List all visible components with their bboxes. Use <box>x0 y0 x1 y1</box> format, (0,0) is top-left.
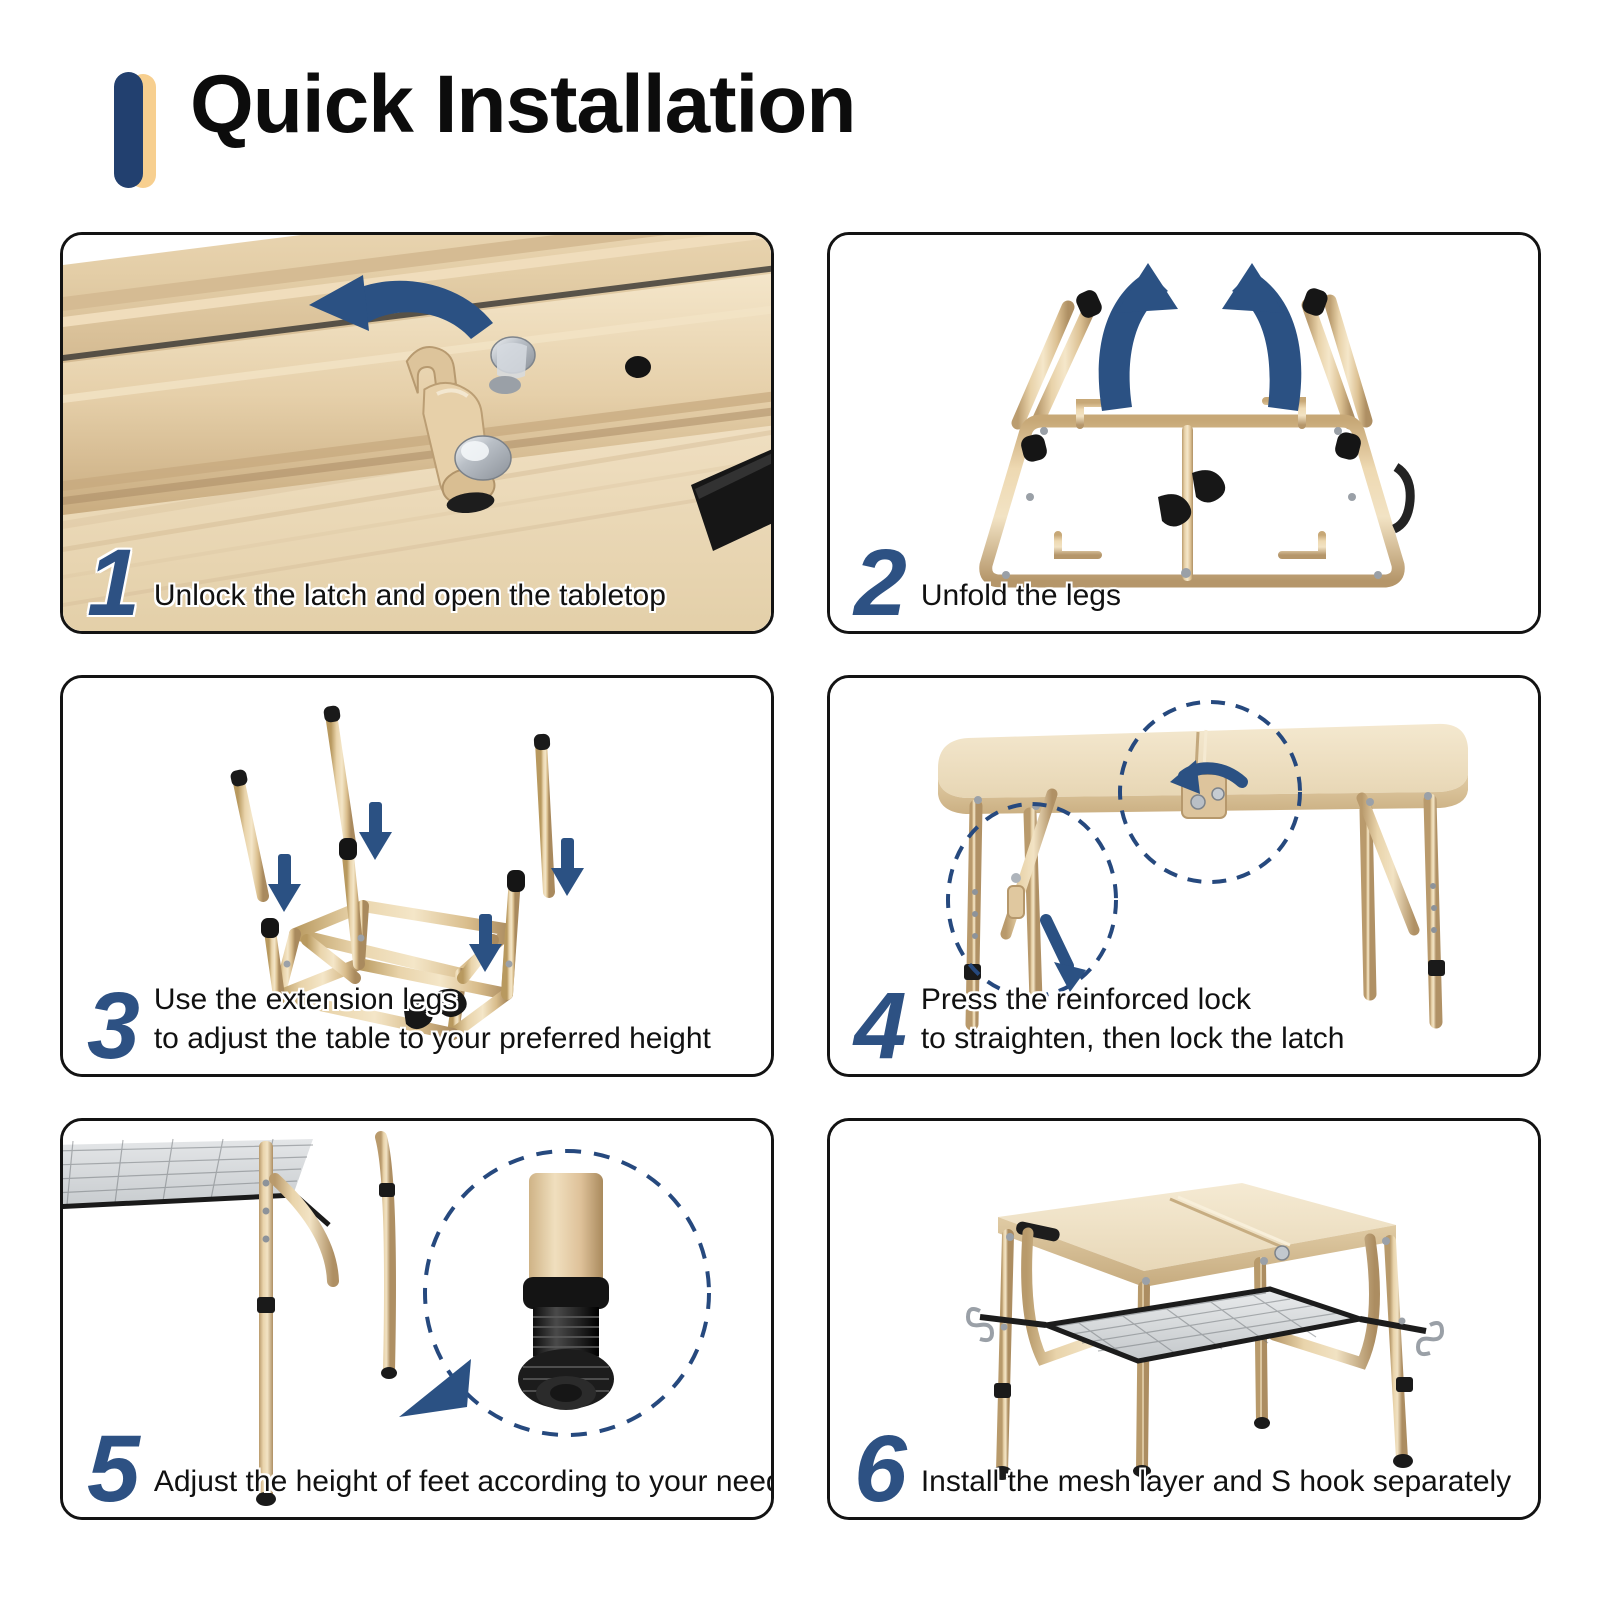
leg-with-adjustable-foot-magnifier <box>63 1121 771 1517</box>
accent-bar-navy <box>114 72 143 188</box>
steps-grid: 1 Unlock the latch and open the tabletop <box>60 232 1541 1542</box>
step-panel-4: 4 Press the reinforced lock to straighte… <box>827 675 1541 1077</box>
step-panel-5: 5 Adjust the height of feet according to… <box>60 1118 774 1520</box>
finished-table-with-mesh-and-s-hooks <box>830 1121 1538 1517</box>
step-panel-6: 6 Install the mesh layer and S hook sepa… <box>827 1118 1541 1520</box>
assembled-table-with-callouts <box>830 678 1538 1074</box>
step-panel-3: 3 Use the extension legs to adjust the t… <box>60 675 774 1077</box>
folded-frame-underside <box>830 235 1538 631</box>
step-panel-1: 1 Unlock the latch and open the tabletop <box>60 232 774 634</box>
page-title: Quick Installation <box>190 62 855 148</box>
inverted-frame-with-extension-legs <box>63 678 771 1074</box>
step-panel-2: 2 Unfold the legs <box>827 232 1541 634</box>
latch-closeup-photo <box>63 235 771 631</box>
title-accent-bar <box>114 72 160 190</box>
page-header: Quick Installation <box>0 0 1601 225</box>
